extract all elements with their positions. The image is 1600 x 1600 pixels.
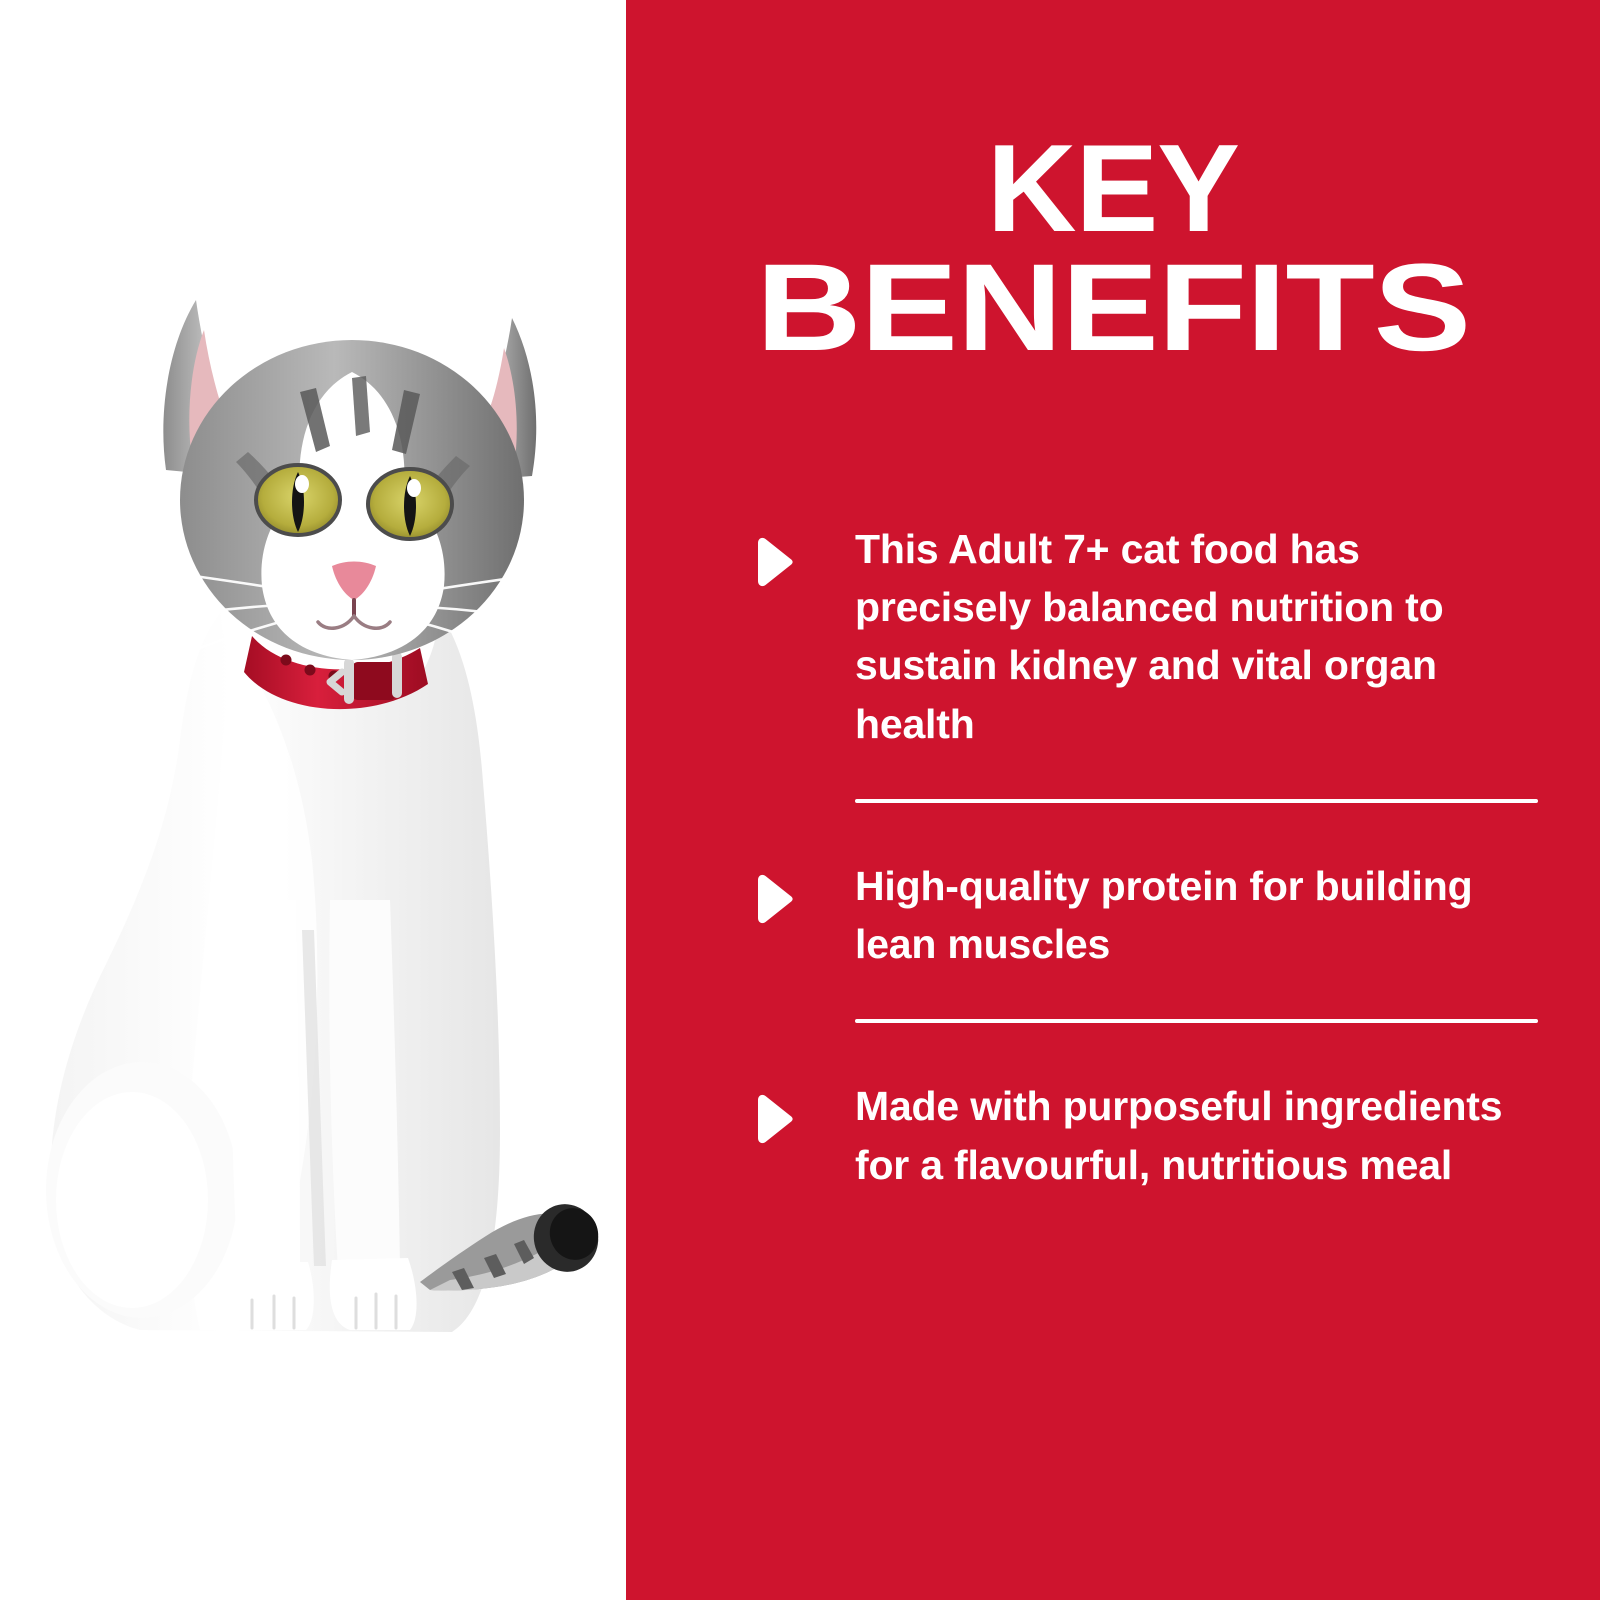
benefit-item: Made with purposeful ingredients for a f… xyxy=(626,1077,1600,1193)
benefit-item: This Adult 7+ cat food has precisely bal… xyxy=(626,520,1600,753)
benefit-text: Made with purposeful ingredients for a f… xyxy=(855,1077,1538,1193)
page-title-line-1: KEY xyxy=(626,132,1600,247)
cat-photo xyxy=(0,0,626,1600)
spacer xyxy=(626,1023,1600,1077)
benefits-panel: KEY BENEFITS This Adult 7+ cat food has … xyxy=(626,0,1600,1600)
triangle-right-icon xyxy=(744,871,800,927)
spacer xyxy=(626,753,1600,799)
spacer xyxy=(626,803,1600,857)
product-benefits-graphic: KEY BENEFITS This Adult 7+ cat food has … xyxy=(0,0,1600,1600)
triangle-right-icon xyxy=(744,534,800,590)
cat-photo-panel xyxy=(0,0,626,1600)
page-title-line-2: BENEFITS xyxy=(538,251,1600,366)
benefit-item: High-quality protein for building lean m… xyxy=(626,857,1600,973)
triangle-right-icon xyxy=(744,1091,800,1147)
benefit-text: This Adult 7+ cat food has precisely bal… xyxy=(855,520,1538,753)
page-title: KEY BENEFITS xyxy=(626,132,1600,367)
benefit-list: This Adult 7+ cat food has precisely bal… xyxy=(626,520,1600,1194)
benefit-text: High-quality protein for building lean m… xyxy=(855,857,1538,973)
spacer xyxy=(626,973,1600,1019)
